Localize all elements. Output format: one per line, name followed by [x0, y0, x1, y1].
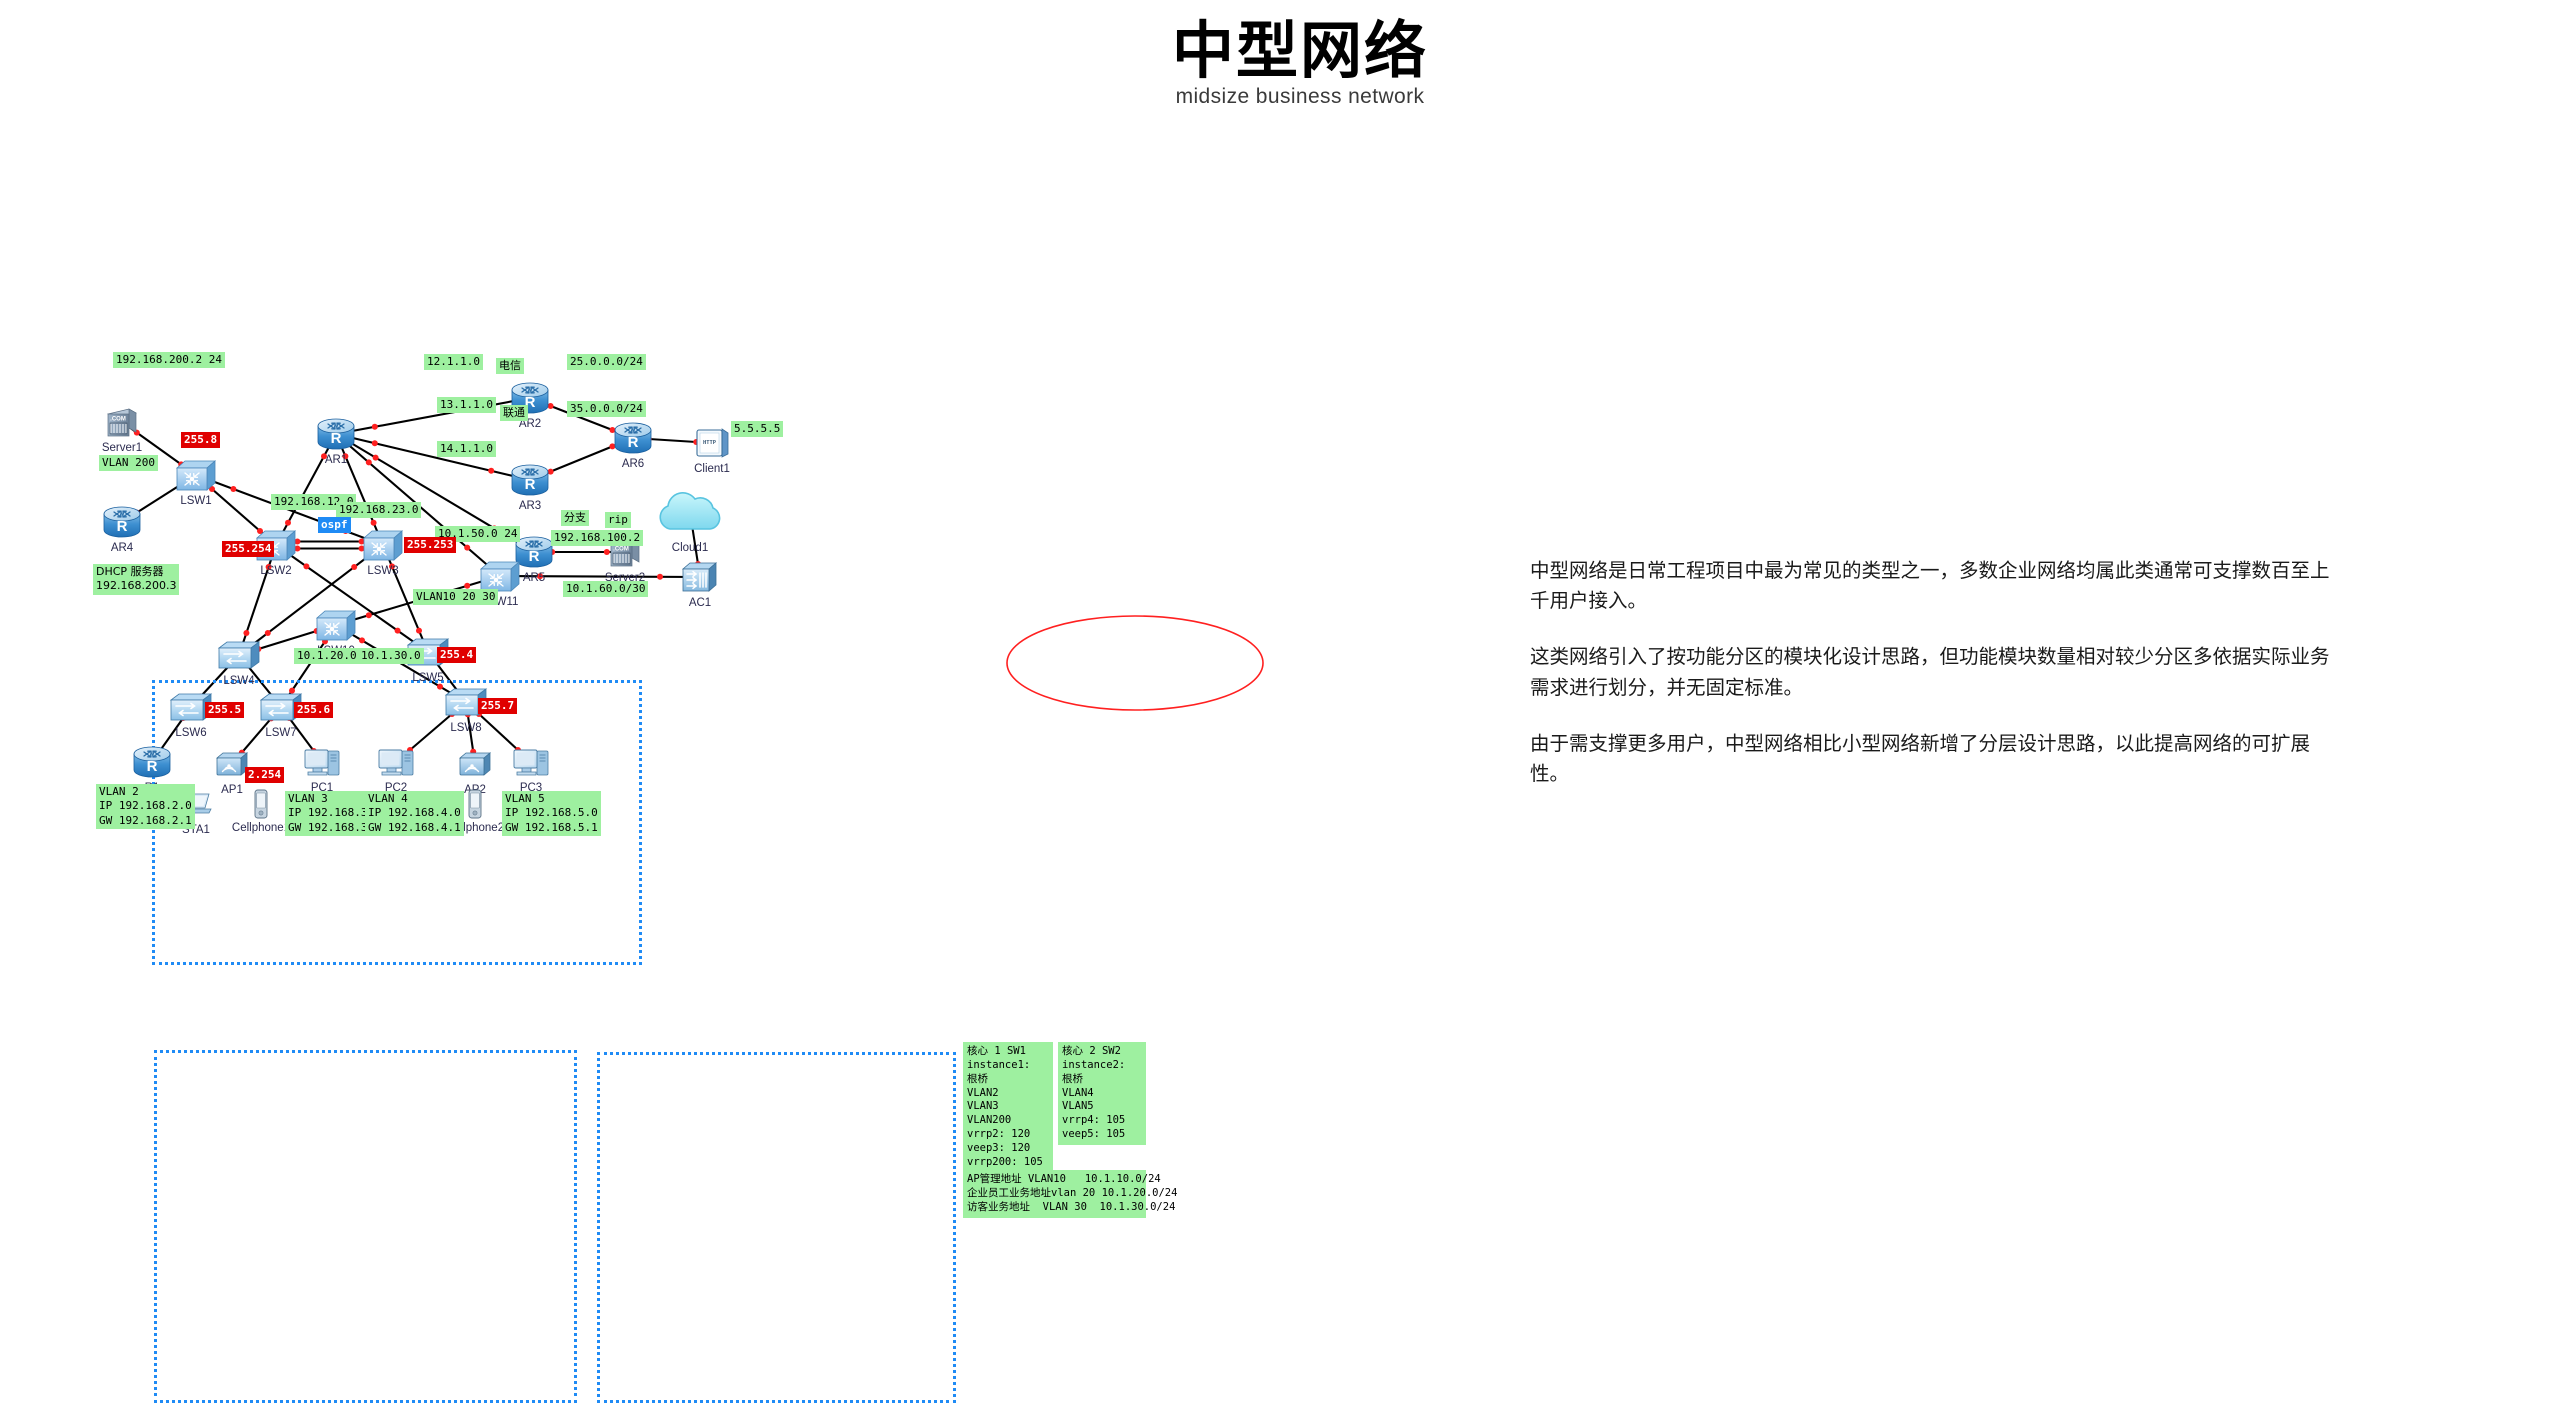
config-addressing-block: AP管理地址 VLAN10 10.1.10.0/24 企业员工业务地址vlan … [963, 1170, 1146, 1218]
node-label-lsw8: LSW8 [450, 722, 481, 734]
port-dot [373, 455, 379, 461]
config-core1-block: 核心 1 SW1 instance1: 根桥 VLAN2 VLAN3 VLAN2… [963, 1042, 1053, 1173]
cloud-icon [652, 485, 728, 539]
port-dot [243, 630, 249, 636]
port-dot [285, 520, 291, 526]
network-topology-diagram: .COM Server1 RAR4 [0, 330, 1300, 1110]
port-dot [657, 574, 663, 580]
ap-icon [458, 751, 492, 777]
tag-ap1-ip: 2.254 [245, 767, 284, 783]
tag-net-192-168-100-2: 192.168.100.2 [551, 530, 643, 546]
tag-vlan-10-20-30: VLAN10 20 30 [413, 589, 498, 605]
node-label-ac1: AC1 [689, 597, 711, 609]
port-dot [359, 637, 365, 643]
switch3d-icon [479, 559, 521, 593]
port-dot [488, 468, 494, 474]
description-paragraph-3: 由于需支撑更多用户，中型网络相比小型网络新增了分层设计思路，以此提高网络的可扩展… [1530, 729, 2340, 789]
tag-net-12-1-1-0: 12.1.1.0 [424, 354, 483, 370]
router-icon: R [101, 505, 143, 539]
svg-text:R: R [525, 476, 536, 493]
tag-vlan200: VLAN 200 [99, 455, 158, 471]
node-label-lsw7: LSW7 [265, 727, 296, 739]
tag-lsw3-vrrp: 255.253 [404, 537, 456, 553]
node-label-lsw4: LSW4 [223, 675, 254, 687]
tag-net-25-0-0-0: 25.0.0.0/24 [567, 354, 646, 370]
ac-icon [681, 560, 719, 594]
ap-icon [215, 751, 249, 777]
node-label-ar3: AR3 [519, 500, 541, 512]
router-icon: R [131, 745, 173, 779]
svg-text:R: R [117, 518, 128, 535]
description-paragraph-2: 这类网络引入了按功能分区的模块化设计思路，但功能模块数量相对较少分区多依据实际业… [1530, 642, 2340, 702]
tag-lsw7-vrrp: 255.6 [294, 702, 333, 718]
router-icon: R [509, 463, 551, 497]
node-label-lsw6: LSW6 [175, 727, 206, 739]
description-panel: 中型网络是日常工程项目中最为常见的类型之一，多数企业网络均属此类通常可支撑数百至… [1530, 556, 2340, 815]
zone-access-left [154, 1050, 577, 1403]
tag-isp-unicom: 联通 [500, 405, 528, 421]
port-dot [395, 628, 401, 634]
client-icon: HTTP [694, 427, 730, 459]
node-label-lsw3: LSW3 [367, 565, 398, 577]
node-label-ap1: AP1 [221, 784, 243, 796]
port-dot [366, 459, 372, 465]
tag-server1-ip: 192.168.200.2 24 [113, 352, 225, 368]
tag-net-35-0-0-0: 35.0.0.0/24 [567, 401, 646, 417]
tag-lsw1-vrrp: 255.8 [181, 432, 220, 448]
node-label-lsw1: LSW1 [180, 495, 211, 507]
port-dot [265, 630, 271, 636]
tag-net-192-168-23-0: 192.168.23.0 [336, 502, 421, 518]
node-label-ar1: AR1 [325, 454, 347, 466]
port-dot [366, 612, 372, 618]
router-icon: R [315, 417, 357, 451]
cellphone-icon [467, 789, 483, 819]
port-dot [464, 545, 470, 551]
tag-lsw8-vrrp: 255.7 [478, 698, 517, 714]
tag-net-14-1-1-0: 14.1.1.0 [437, 441, 496, 457]
tag-net-10-1-20-0: 10.1.20.0 [294, 648, 360, 664]
svg-text:.COM: .COM [613, 547, 629, 553]
node-label-cellphone1: Cellphone1 [232, 822, 290, 834]
svg-text:.COM: .COM [110, 417, 126, 423]
router-icon: R [612, 421, 654, 455]
switch3d-icon [362, 528, 404, 562]
node-label-ar6: AR6 [622, 458, 644, 470]
node-label-client1: Client1 [694, 463, 730, 475]
port-dot [416, 628, 422, 634]
zone-access-right [597, 1052, 956, 1403]
pc-icon [303, 746, 341, 778]
tag-lsw5-vrrp: 255.4 [437, 647, 476, 663]
page-title: 中型网络 midsize business network [1140, 18, 1460, 109]
node-label-server1: Server1 [102, 442, 142, 454]
port-dot [372, 424, 378, 430]
tag-client1-ip: 5.5.5.5 [731, 421, 783, 437]
switch2d-icon [217, 640, 261, 670]
svg-text:R: R [147, 758, 158, 775]
tag-net-10-1-30-0: 10.1.30.0 [358, 648, 424, 664]
switch3d-icon [175, 458, 217, 492]
tag-rip-label: rip [605, 512, 631, 528]
node-label-lsw5: LSW5 [412, 672, 443, 684]
config-core2-block: 核心 2 SW2 instance2: 根桥 VLAN4 VLAN5 vrrp4… [1058, 1042, 1146, 1145]
pc-icon [377, 746, 415, 778]
tag-vlan5-block: VLAN 5 IP 192.168.5.0 GW 192.168.5.1 [502, 791, 601, 836]
tag-branch-label: 分支 [561, 510, 589, 526]
node-label-lsw2: LSW2 [260, 565, 291, 577]
svg-text:HTTP: HTTP [703, 440, 717, 446]
switch3d-icon [315, 608, 357, 642]
title-subtitle-text: midsize business network [1140, 85, 1460, 109]
title-main-text: 中型网络 [1140, 18, 1460, 83]
svg-text:R: R [529, 548, 540, 565]
port-dot [372, 440, 378, 446]
port-dot [230, 486, 236, 492]
pc-icon [512, 746, 550, 778]
tag-net-13-1-1-0: 13.1.1.0 [437, 397, 496, 413]
node-label-ar5: AR5 [523, 572, 545, 584]
branch-area [1007, 616, 1263, 710]
tag-dhcp-server: DHCP 服务器 192.168.200.3 [93, 564, 179, 595]
port-dot [464, 583, 470, 589]
svg-text:R: R [628, 434, 639, 451]
tag-net-10-1-60-0: 10.1.60.0/30 [563, 581, 648, 597]
link-AR1-AR3 [336, 434, 530, 480]
node-label-ar4: AR4 [111, 542, 133, 554]
cellphone-icon [253, 789, 269, 819]
tag-ospf-label: ospf [318, 517, 351, 533]
port-dot [371, 520, 377, 526]
svg-text:R: R [331, 430, 342, 447]
port-dot [351, 564, 357, 570]
description-paragraph-1: 中型网络是日常工程项目中最为常见的类型之一，多数企业网络均属此类通常可支撑数百至… [1530, 556, 2340, 616]
tag-vlan4-block: VLAN 4 IP 192.168.4.0 GW 192.168.4.1 [365, 791, 464, 836]
tag-lsw6-vrrp: 255.5 [205, 702, 244, 718]
node-label-cloud1: Cloud1 [672, 542, 708, 554]
tag-isp-telecom: 电信 [496, 358, 524, 374]
tag-lsw2-vrrp: 255.254 [222, 541, 274, 557]
server-icon: .COM [105, 405, 139, 439]
port-dot [303, 563, 309, 569]
tag-vlan2-block: VLAN 2 IP 192.168.2.0 GW 192.168.2.1 [96, 784, 195, 829]
